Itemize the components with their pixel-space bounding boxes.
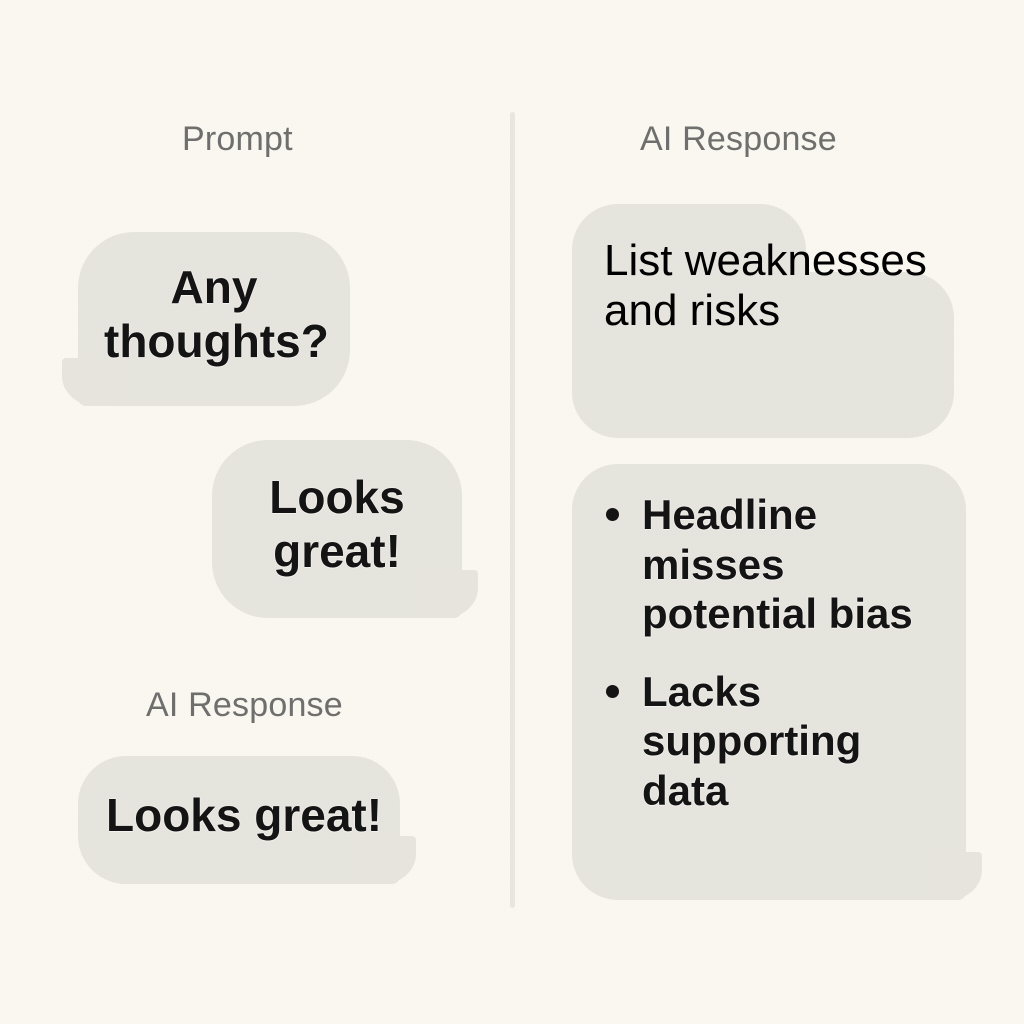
bullet-dot-icon — [606, 685, 619, 698]
column-header-ai-response-left: AI Response — [146, 688, 343, 722]
message-text: Looks great! — [212, 440, 462, 579]
message-bubble-weakness-bullets[interactable]: Headline misses potential bias Lacks sup… — [572, 464, 966, 900]
column-header-prompt: Prompt — [182, 122, 293, 156]
bullet-dot-icon — [606, 508, 619, 521]
list-item-label: Lacks supporting data — [642, 668, 861, 814]
message-text: Headline misses potential bias Lacks sup… — [572, 464, 966, 815]
list-item-label: Headline misses potential bias — [642, 491, 913, 637]
message-text: Any thoughts? — [78, 232, 350, 369]
message-bubble-looks-great-response[interactable]: Looks great! — [78, 756, 400, 884]
list-item: Headline misses potential bias — [602, 490, 944, 639]
message-bubble-list-weaknesses[interactable]: List weaknesses and risks — [572, 204, 954, 438]
message-bubble-any-thoughts[interactable]: Any thoughts? — [78, 232, 350, 406]
conversation-canvas: Prompt Any thoughts? Looks great! AI Res… — [0, 0, 1024, 1024]
message-text: List weaknesses and risks — [572, 204, 954, 336]
list-item: Lacks supporting data — [602, 667, 944, 816]
column-header-ai-response-right: AI Response — [640, 122, 837, 156]
column-divider — [510, 112, 515, 908]
message-text: Looks great! — [78, 756, 400, 842]
message-bubble-looks-great-outgoing[interactable]: Looks great! — [212, 440, 462, 618]
weakness-bullet-list: Headline misses potential bias Lacks sup… — [602, 490, 944, 815]
